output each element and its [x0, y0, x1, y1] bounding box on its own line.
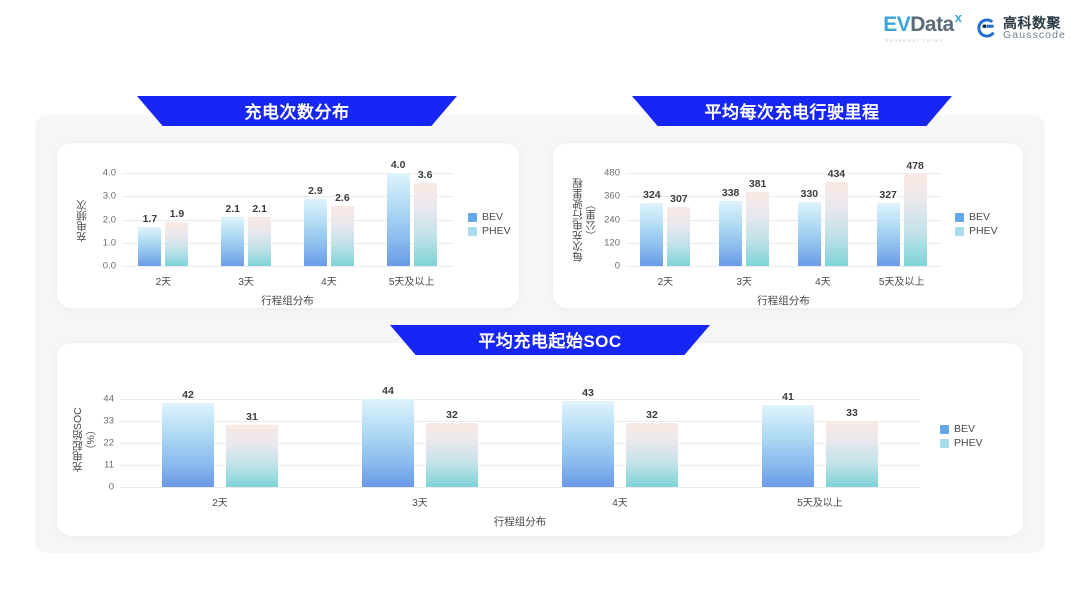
chart1-x-axis-label: 行程组分布	[122, 293, 453, 308]
evdata-logo-text: EVData	[883, 14, 954, 35]
legend-label-phev: PHEV	[954, 437, 983, 449]
evdata-logo: EVData x SHANGHAI CHINA	[883, 14, 962, 43]
chart3-bar-value-label: 32	[626, 409, 678, 421]
chart2-y-tick: 0	[615, 261, 620, 272]
chart1-x-tick: 2天	[156, 273, 172, 288]
chart2-bar-phev-2: 434	[825, 182, 848, 266]
chart3-x-tick: 3天	[412, 494, 428, 509]
chart1-bar-phev-1: 2.1	[248, 217, 271, 266]
chart2-bar-value-label: 327	[877, 189, 900, 201]
chart2-bar-phev-1: 381	[746, 192, 769, 266]
chart3-bar-phev-0: 31	[226, 425, 278, 487]
chart3-y-tick: 33	[103, 415, 114, 426]
chart2-x-axis-label: 行程组分布	[626, 293, 941, 308]
chart3-legend-item-bev[interactable]: BEV	[940, 423, 983, 435]
chart2-bar-bev-1: 338	[719, 201, 742, 266]
chart2-bar-value-label: 478	[904, 160, 927, 172]
chart1-bar-value-label: 3.6	[414, 169, 437, 181]
evdata-logo-data: Data	[910, 13, 954, 36]
legend-swatch-bev-icon	[468, 213, 477, 222]
chart2-x-tick: 4天	[815, 273, 831, 288]
chart3-bar-value-label: 32	[426, 409, 478, 421]
chart3-bar-value-label: 42	[162, 389, 214, 401]
chart2-y-tick: 480	[604, 168, 620, 179]
chart3-bar-value-label: 41	[762, 391, 814, 403]
chart3-title-banner: 平均充电起始SOC	[390, 325, 710, 355]
brand-logo-bar: EVData x SHANGHAI CHINA 高科数聚 Gausscode	[883, 14, 1066, 43]
legend-label-bev: BEV	[482, 211, 503, 223]
chart2-bar-value-label: 307	[667, 193, 690, 205]
gausscode-cn-name: 高科数聚	[1003, 16, 1066, 31]
chart1-legend: BEVPHEV	[468, 211, 511, 237]
chart2-bar-value-label: 381	[746, 178, 769, 190]
chart3-bar-value-label: 44	[362, 385, 414, 397]
chart2-x-tick: 2天	[658, 273, 674, 288]
chart3-bar-bev-0: 42	[162, 403, 214, 487]
chart2-legend-item-bev[interactable]: BEV	[955, 211, 998, 223]
chart1-legend-item-bev[interactable]: BEV	[468, 211, 511, 223]
evdata-tagline: SHANGHAI CHINA	[885, 38, 943, 43]
chart2-legend-item-phev[interactable]: PHEV	[955, 225, 998, 237]
chart1-bar-value-label: 2.9	[304, 185, 327, 197]
chart3-y-tick: 44	[103, 393, 114, 404]
chart2-bar-bev-0: 324	[640, 203, 663, 266]
chart3-bar-phev-2: 32	[626, 423, 678, 487]
legend-label-bev: BEV	[969, 211, 990, 223]
slide-root: EVData x SHANGHAI CHINA 高科数聚 Gausscode 充…	[0, 0, 1080, 608]
chart2-x-tick: 5天及以上	[879, 273, 925, 288]
chart3-bar-bev-3: 41	[762, 405, 814, 487]
chart1-y-axis-label: 充电频次	[76, 186, 89, 256]
chart3-bar-value-label: 31	[226, 411, 278, 423]
chart3-bar-phev-1: 32	[426, 423, 478, 487]
chart1-gridline	[122, 266, 453, 267]
evdata-superscript-x: x	[955, 10, 962, 25]
legend-label-phev: PHEV	[482, 225, 511, 237]
gausscode-g-icon	[976, 17, 998, 39]
chart3-x-axis-label: 行程组分布	[120, 514, 920, 529]
chart3-legend-item-phev[interactable]: PHEV	[940, 437, 983, 449]
chart3-bar-value-label: 33	[826, 407, 878, 419]
chart2-bar-value-label: 330	[798, 188, 821, 200]
chart1-x-tick: 5天及以上	[389, 273, 435, 288]
legend-swatch-phev-icon	[468, 227, 477, 236]
chart1-y-tick: 0.0	[103, 261, 116, 272]
chart3-bar-phev-3: 33	[826, 421, 878, 487]
chart1-title-banner: 充电次数分布	[137, 96, 457, 126]
chart1-bar-value-label: 1.7	[138, 213, 161, 225]
chart2-x-tick: 3天	[736, 273, 752, 288]
chart2-bar-bev-2: 330	[798, 202, 821, 266]
chart1-legend-item-phev[interactable]: PHEV	[468, 225, 511, 237]
chart3-bar-bev-1: 44	[362, 399, 414, 487]
legend-label-bev: BEV	[954, 423, 975, 435]
chart1-y-tick: 4.0	[103, 168, 116, 179]
chart1-bar-value-label: 4.0	[387, 159, 410, 171]
chart3-bar-bev-2: 43	[562, 401, 614, 487]
chart1-bar-phev-2: 2.6	[331, 206, 354, 266]
gausscode-en-name: Gausscode	[1003, 30, 1066, 41]
chart1-bar-phev-3: 3.6	[414, 183, 437, 266]
chart1-bar-value-label: 1.9	[165, 208, 188, 220]
chart2-bar-phev-3: 478	[904, 174, 927, 266]
chart2-plot-area: 01202403604803243072天3383813天3304344天327…	[626, 164, 941, 266]
chart2-legend: BEVPHEV	[955, 211, 998, 237]
chart3-y-axis-label: 充电起始SOC （%）	[72, 392, 98, 487]
chart2-bar-phev-0: 307	[667, 207, 690, 266]
chart2-bar-value-label: 338	[719, 187, 742, 199]
chart3-y-tick: 11	[104, 459, 114, 470]
chart1-plot-area: 0.01.02.03.04.01.71.92天2.12.13天2.92.64天4…	[122, 164, 453, 266]
chart3-x-tick: 4天	[612, 494, 628, 509]
chart3-bar-value-label: 43	[562, 387, 614, 399]
chart1-bar-bev-1: 2.1	[221, 217, 244, 266]
chart2-bar-value-label: 434	[825, 168, 848, 180]
chart1-x-tick: 4天	[321, 273, 337, 288]
chart3-gridline	[120, 487, 920, 488]
chart2-gridline	[626, 173, 941, 174]
chart1-bar-phev-0: 1.9	[165, 222, 188, 266]
chart3-y-tick: 22	[103, 437, 114, 448]
chart1-bar-bev-3: 4.0	[387, 173, 410, 266]
evdata-logo-ev: EV	[883, 13, 910, 36]
chart1-y-tick: 1.0	[103, 237, 116, 248]
gausscode-logo: 高科数聚 Gausscode	[976, 16, 1066, 42]
chart2-y-tick: 360	[604, 191, 620, 202]
chart2-bar-value-label: 324	[640, 189, 663, 201]
chart1-bar-value-label: 2.6	[331, 192, 354, 204]
chart2-gridline	[626, 266, 941, 267]
chart3-y-tick: 0	[109, 482, 114, 493]
chart1-y-tick: 3.0	[103, 191, 116, 202]
evdata-wordmark: EVData x	[883, 14, 962, 35]
legend-swatch-phev-icon	[940, 439, 949, 448]
legend-swatch-phev-icon	[955, 227, 964, 236]
chart1-bar-bev-2: 2.9	[304, 199, 327, 266]
chart2-title-banner: 平均每次充电行驶里程	[632, 96, 952, 126]
chart3-legend: BEVPHEV	[940, 423, 983, 449]
legend-swatch-bev-icon	[955, 213, 964, 222]
legend-swatch-bev-icon	[940, 425, 949, 434]
gausscode-wordmark: 高科数聚 Gausscode	[1003, 16, 1066, 42]
chart1-y-tick: 2.0	[103, 214, 116, 225]
chart3-plot-area: 01122334442312天44323天43324天41335天及以上行程组分…	[120, 390, 920, 487]
chart2-y-tick: 240	[604, 214, 620, 225]
chart1-bar-value-label: 2.1	[248, 203, 271, 215]
chart1-bar-value-label: 2.1	[221, 203, 244, 215]
chart2-y-tick: 120	[604, 237, 620, 248]
chart3-x-tick: 5天及以上	[797, 494, 843, 509]
chart2-bar-bev-3: 327	[877, 203, 900, 266]
chart2-y-axis-label: 每次充电行驶里程 （公里）	[572, 164, 598, 276]
chart1-bar-bev-0: 1.7	[138, 227, 161, 266]
chart3-x-tick: 2天	[212, 494, 228, 509]
legend-label-phev: PHEV	[969, 225, 998, 237]
chart1-x-tick: 3天	[238, 273, 254, 288]
